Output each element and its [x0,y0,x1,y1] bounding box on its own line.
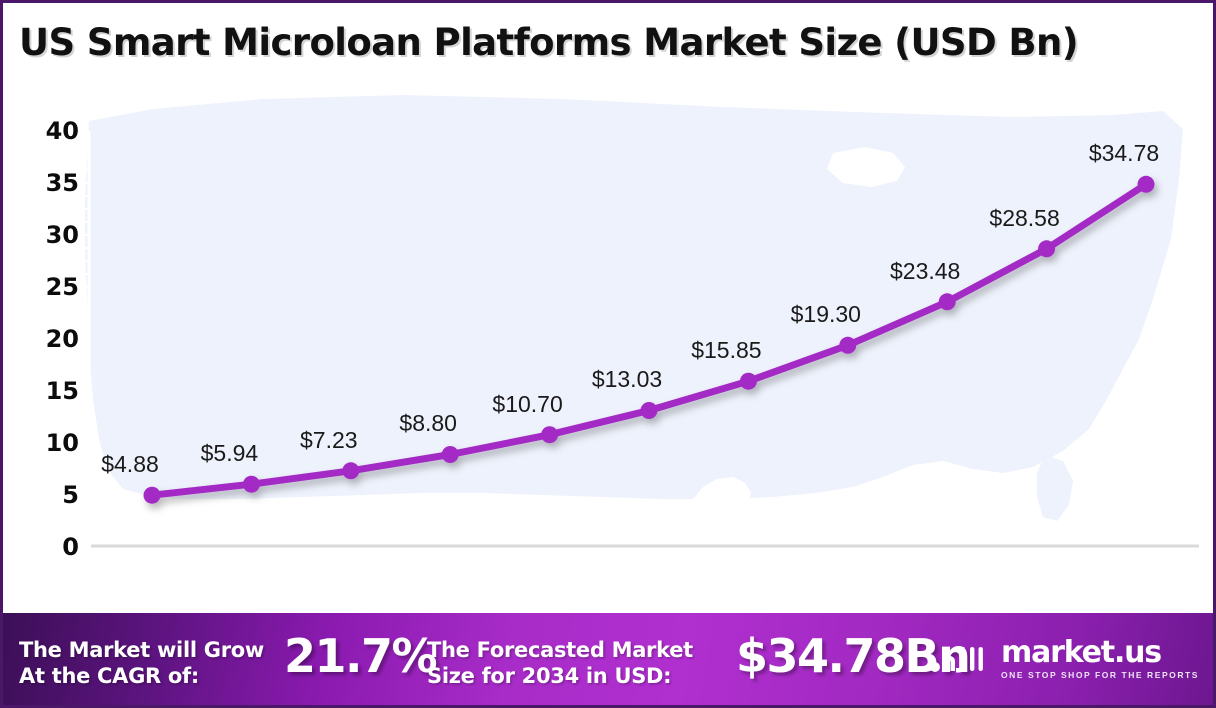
series-marker[interactable] [541,426,558,443]
y-tick-label: 40 [21,119,79,143]
market-us-logo-icon [929,637,991,681]
series-marker[interactable] [243,476,260,493]
cagr-caption-line1: The Market will Grow [19,637,264,663]
logo-arc-left [945,656,955,671]
series-marker[interactable] [839,337,856,354]
data-point-label: $13.03 [562,366,692,393]
logo-dot [930,662,940,672]
logo-text-block: market.us ONE STOP SHOP FOR THE REPORTS [1001,638,1199,681]
data-point-label: $23.48 [860,258,990,285]
data-point-label: $28.58 [960,205,1090,232]
logo-bar-1 [970,647,974,671]
y-tick-label: 5 [21,483,79,507]
logo-bar-2 [979,647,983,671]
cagr-value: 21.7% [284,631,436,681]
plot-area: 40 35 30 25 20 15 10 5 0 $4.88$5.94$7.23… [3,69,1213,609]
brand-logo[interactable]: market.us ONE STOP SHOP FOR THE REPORTS [929,637,1199,681]
y-tick-label: 0 [21,535,79,559]
data-point-label: $34.78 [1059,140,1189,167]
forecast-caption: The Forecasted Market Size for 2034 in U… [427,637,693,689]
cagr-caption: The Market will Grow At the CAGR of: [19,637,264,689]
data-point-label: $10.70 [463,391,593,418]
logo-tagline: ONE STOP SHOP FOR THE REPORTS [1001,669,1199,681]
y-axis-labels: 40 35 30 25 20 15 10 5 0 [11,69,79,609]
data-series-layer [3,69,1213,609]
forecast-caption-line1: The Forecasted Market [427,637,693,663]
y-tick-label: 20 [21,327,79,351]
series-marker[interactable] [939,293,956,310]
y-tick-label: 35 [21,171,79,195]
series-marker[interactable] [740,373,757,390]
data-point-label: $15.85 [661,337,791,364]
y-tick-label: 15 [21,379,79,403]
series-marker[interactable] [342,462,359,479]
chart-infographic: US Smart Microloan Platforms Market Size… [0,0,1216,708]
y-tick-label: 30 [21,223,79,247]
footer-bar: The Market will Grow At the CAGR of: 21.… [3,613,1213,705]
series-marker[interactable] [442,446,459,463]
series-marker[interactable] [1138,176,1155,193]
logo-wordmark: market.us [1001,638,1199,668]
series-marker[interactable] [641,402,658,419]
data-point-label: $19.30 [761,301,891,328]
y-tick-label: 25 [21,275,79,299]
series-marker[interactable] [1038,240,1055,257]
series-marker[interactable] [144,487,161,504]
forecast-caption-line2: Size for 2034 in USD: [427,663,693,689]
logo-hook [956,647,965,673]
page-title: US Smart Microloan Platforms Market Size… [19,19,1199,69]
cagr-caption-line2: At the CAGR of: [19,663,264,689]
